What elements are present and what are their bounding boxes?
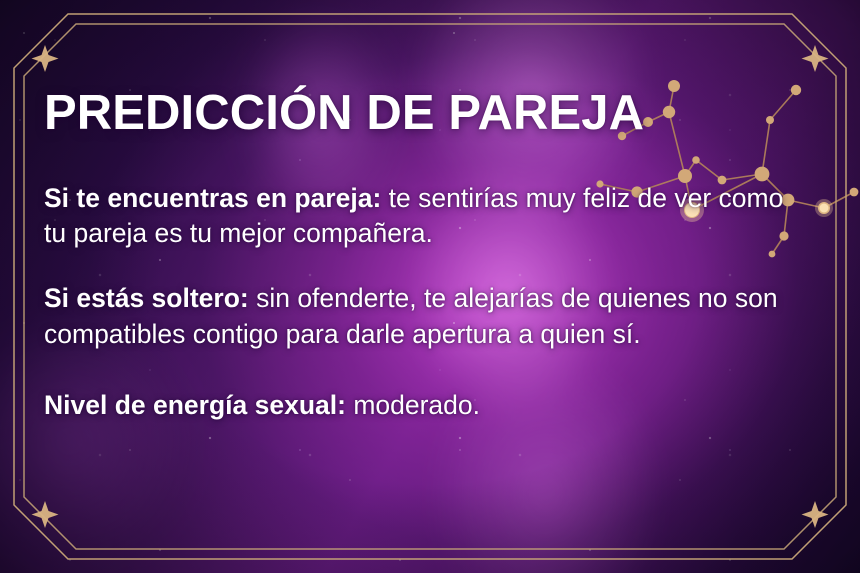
prediction-card: PREDICCIÓN DE PAREJA Si te encuentras en… <box>0 0 860 573</box>
paragraph-lead-in-relationship: Si te encuentras en pareja: <box>44 183 381 213</box>
prediction-body: Si te encuentras en pareja: te sentirías… <box>44 181 816 423</box>
paragraph-lead-energy-level: Nivel de energía sexual: <box>44 390 346 420</box>
paragraph-in-relationship: Si te encuentras en pareja: te sentirías… <box>44 181 804 251</box>
paragraph-lead-single: Si estás soltero: <box>44 283 249 313</box>
page-title: PREDICCIÓN DE PAREJA <box>44 88 816 139</box>
paragraph-single: Si estás soltero: sin ofenderte, te alej… <box>44 281 804 351</box>
paragraph-energy-level: Nivel de energía sexual: moderado. <box>44 388 804 423</box>
card-content: PREDICCIÓN DE PAREJA Si te encuentras en… <box>0 0 860 573</box>
paragraph-text-energy-level: moderado. <box>346 390 480 420</box>
